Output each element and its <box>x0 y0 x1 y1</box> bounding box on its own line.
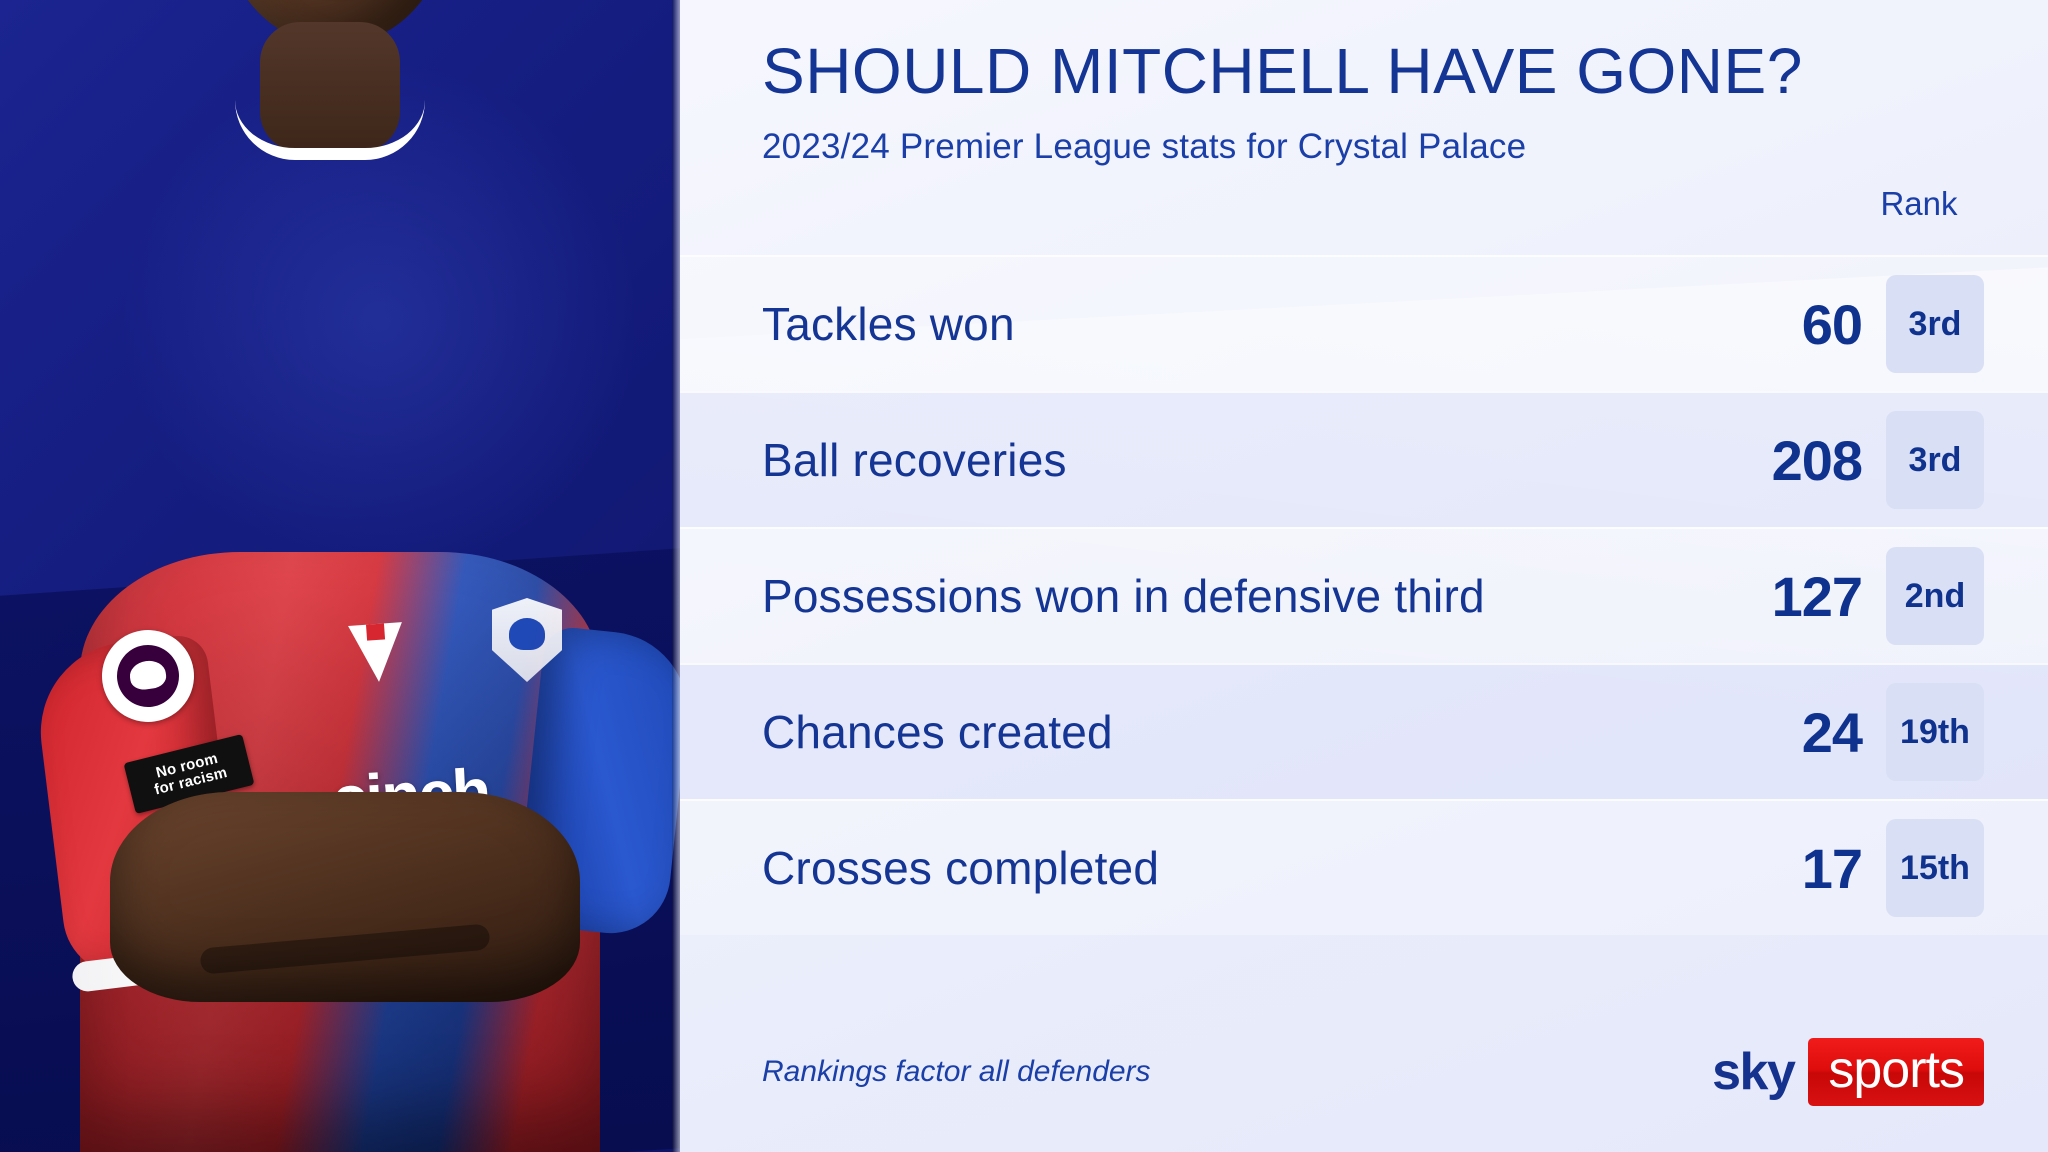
stat-value: 17 <box>1696 836 1886 901</box>
stat-value: 127 <box>1696 564 1886 629</box>
table-row: Ball recoveries 208 3rd <box>680 391 2048 527</box>
stat-value: 24 <box>1696 700 1886 765</box>
stat-label: Tackles won <box>762 297 1696 351</box>
rank-badge: 3rd <box>1886 411 1984 509</box>
stat-value: 208 <box>1696 428 1886 493</box>
footnote-text: Rankings factor all defenders <box>762 1055 1151 1089</box>
page-subtitle: 2023/24 Premier League stats for Crystal… <box>762 127 1984 167</box>
table-row: Tackles won 60 3rd <box>680 255 2048 391</box>
player-folded-arms <box>110 792 580 1002</box>
rank-column-header: Rank <box>1854 185 1984 223</box>
table-row: Possessions won in defensive third 127 2… <box>680 527 2048 663</box>
sports-wordmark: sports <box>1828 1041 1964 1099</box>
rank-badge: 15th <box>1886 819 1984 917</box>
footer: Rankings factor all defenders sky sports <box>680 992 2048 1152</box>
macron-logo-icon <box>348 622 406 684</box>
panel-divider <box>672 0 680 1152</box>
stats-content-panel: SHOULD MITCHELL HAVE GONE? 2023/24 Premi… <box>680 0 2048 1152</box>
premier-league-badge-inner <box>113 641 183 711</box>
sports-logo-box: sports <box>1808 1038 1984 1106</box>
stat-value: 60 <box>1696 292 1886 357</box>
sky-sports-stats-graphic: cinch No room for racism SHOULD MITCHELL… <box>0 0 2048 1152</box>
stat-label: Ball recoveries <box>762 433 1696 487</box>
header-area: SHOULD MITCHELL HAVE GONE? 2023/24 Premi… <box>680 0 2048 167</box>
stat-label: Crosses completed <box>762 841 1696 895</box>
rank-badge: 3rd <box>1886 275 1984 373</box>
table-row: Chances created 24 19th <box>680 663 2048 799</box>
stat-label: Chances created <box>762 705 1696 759</box>
player-portrait: cinch No room for racism <box>50 92 670 1152</box>
rank-badge: 2nd <box>1886 547 1984 645</box>
stat-label: Possessions won in defensive third <box>762 569 1696 623</box>
jersey-collar <box>235 100 425 160</box>
stats-table: Tackles won 60 3rd Ball recoveries 208 3… <box>680 255 2048 935</box>
sky-wordmark: sky <box>1712 1046 1794 1098</box>
sky-sports-logo: sky sports <box>1712 1038 1984 1106</box>
player-photo-panel: cinch No room for racism <box>0 0 680 1152</box>
page-title: SHOULD MITCHELL HAVE GONE? <box>762 38 1984 105</box>
rank-badge: 19th <box>1886 683 1984 781</box>
table-row: Crosses completed 17 15th <box>680 799 2048 935</box>
